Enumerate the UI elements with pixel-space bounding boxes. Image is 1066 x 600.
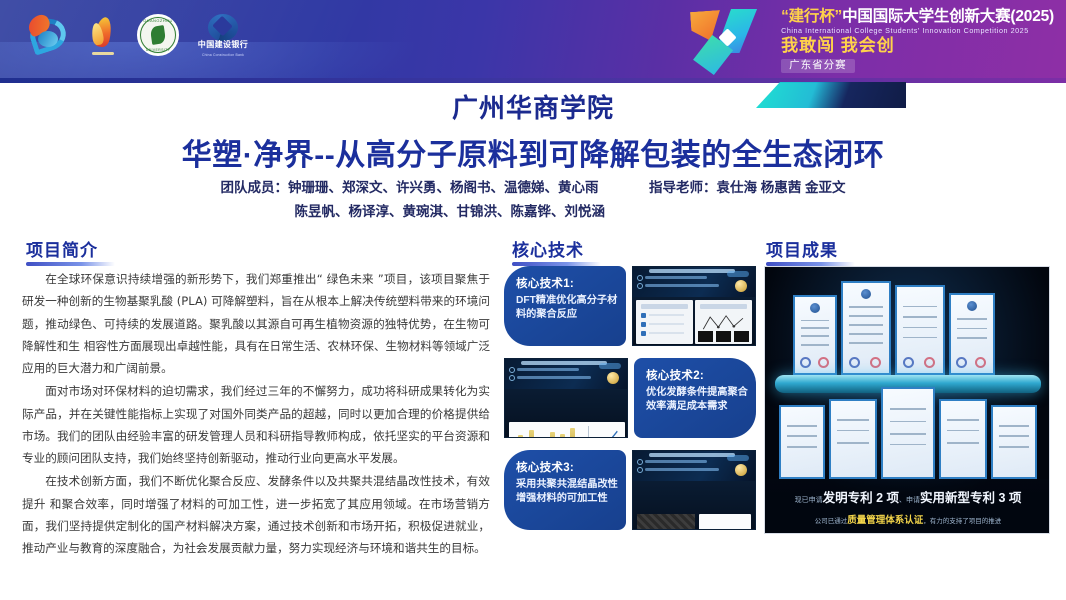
contest-sponsor-quote: “建行杯” [781, 8, 842, 25]
cert-line2-suffix: ，有力的支持了项目的推进 [923, 518, 1001, 525]
contest-slogan: 我敢闯 我会创 [781, 37, 1054, 55]
core-tech-item-2: 核心技术2: 优化发酵条件提高聚合效率满足成本需求 [504, 358, 756, 438]
certificate-item [779, 405, 825, 479]
contest-title-row: “建行杯”中国国际大学生创新大赛(2025) [781, 9, 1054, 25]
patent-line-1: 现已申请发明专利 2 项、申请实用新型专利 3 项 [765, 487, 1050, 506]
contest-title-en: China International College Students' In… [781, 27, 1054, 35]
section-heading-core-tech: 核心技术 [512, 236, 584, 264]
core-tech-title-3: 核心技术3: [516, 459, 618, 475]
footer-whitespace [0, 558, 1066, 600]
sem-image-icon [637, 514, 695, 530]
core-tech-title-1: 核心技术1: [516, 275, 618, 291]
top-banner: GUANGZHOU UNIVERSITY 中国建设银行 China Constr… [0, 0, 1066, 82]
results-image-panel: 现已申请发明专利 2 项、申请实用新型专利 3 项 公司已通过质量管理体系认证，… [764, 266, 1050, 534]
advisors-label: 指导老师： [649, 180, 717, 195]
core-tech-desc-1: DFT精准优化高分子材料的聚合反应 [516, 294, 618, 322]
core-tech-card-1: 核心技术1: DFT精准优化高分子材料的聚合反应 [504, 266, 626, 346]
core-tech-list: 核心技术1: DFT精准优化高分子材料的聚合反应 [504, 266, 756, 534]
intro-paragraph-3: 在技术创新方面，我们不断优化聚合反应、发酵条件以及共聚共混结晶改性技术，有效提升… [22, 470, 490, 559]
flame-logo-icon [88, 13, 122, 57]
certificate-item [895, 285, 945, 375]
intro-paragraph-1: 在全球环保意识持续增强的新形势下，我们郑重推出“ 绿色未来 ”项目，该项目聚焦于… [22, 268, 490, 379]
cert-line2-prefix: 公司已通过 [815, 518, 848, 525]
crystallinity-bar-chart-icon [699, 514, 751, 530]
core-tech-card-3: 核心技术3: 采用共聚共混结晶改性增强材料的可加工性 [504, 450, 626, 530]
team-members-line1: 团队成员：钟珊珊、郑深文、许兴勇、杨阁书、温德娣、黄心雨 [220, 176, 605, 200]
patent-summary-banner: 现已申请发明专利 2 项、申请实用新型专利 3 项 公司已通过质量管理体系认证，… [765, 479, 1050, 533]
intro-paragraph-2: 面对市场对环保材料的迫切需求，我们经过三年的不懈努力，成功将科研成果转化为实际产… [22, 380, 490, 469]
ccb-bank-logo-icon: 中国建设银行 China Construction Bank [194, 13, 252, 57]
contest-text-block: “建行杯”中国国际大学生创新大赛(2025) China Internation… [781, 9, 1054, 74]
core-tech-2-slide-image [504, 358, 628, 438]
certificate-item [991, 405, 1037, 479]
certificate-item [881, 387, 935, 479]
people-block: 团队成员：钟珊珊、郑深文、许兴勇、杨阁书、温德娣、黄心雨 陈昱帆、杨译淳、黄琬淇… [0, 176, 1066, 223]
certificate-item [939, 399, 987, 479]
advisors: 指导老师：袁仕海 杨惠茜 金亚文 [649, 176, 846, 223]
certificate-item [949, 293, 995, 375]
team-members: 团队成员：钟珊珊、郑深文、许兴勇、杨阁书、温德娣、黄心雨 陈昱帆、杨译淳、黄琬淇… [220, 176, 605, 223]
school-name: 广州华商学院 [0, 88, 1066, 125]
core-tech-desc-3: 采用共聚共混结晶改性增强材料的可加工性 [516, 478, 618, 506]
core-tech-item-1: 核心技术1: DFT精准优化高分子材料的聚合反应 [504, 266, 756, 346]
patent-line1-prefix: 现已申请 [795, 497, 823, 504]
contest-badge: “建行杯”中国国际大学生创新大赛(2025) China Internation… [681, 4, 1054, 78]
certificate-item [793, 295, 837, 375]
contest-title-cn: 中国国际大学生创新大赛(2025) [842, 8, 1054, 25]
patent-line1-mid: 、申请 [899, 497, 920, 504]
certificate-item [829, 399, 877, 479]
section-heading-results: 项目成果 [766, 236, 838, 264]
core-tech-3-slide-image [632, 450, 756, 530]
contest-region-badge: 广东省分赛 [781, 59, 855, 73]
certificate-row-bottom [779, 387, 1037, 479]
quality-certification-label: 质量管理体系认证 [847, 515, 923, 526]
patent-utility-count: 实用新型专利 3 项 [920, 491, 1021, 505]
team-members-names1: 钟珊珊、郑深文、许兴勇、杨阁书、温德娣、黄心雨 [288, 180, 599, 195]
advisors-names: 袁仕海 杨惠茜 金亚文 [716, 180, 845, 195]
page-title: 华塑·净界--从高分子原料到可降解包装的全生态闭环 [0, 130, 1066, 174]
patent-invention-count: 发明专利 2 项 [823, 491, 899, 505]
certificate-row-top [793, 281, 995, 375]
team-members-label: 团队成员： [220, 180, 288, 195]
ccb-logo-label: 中国建设银行 [194, 39, 252, 50]
core-tech-item-3: 核心技术3: 采用共聚共混结晶改性增强材料的可加工性 [504, 450, 756, 530]
core-tech-1-slide-image [632, 266, 756, 346]
guangdong-wave-logo-icon [24, 13, 74, 57]
poster-root: GUANGZHOU UNIVERSITY 中国建设银行 China Constr… [0, 0, 1066, 600]
core-tech-title-2: 核心技术2: [646, 367, 748, 383]
banner-bottom-edge [0, 78, 1066, 83]
team-members-names2: 陈昱帆、杨译淳、黄琬淇、甘锦洪、陈嘉铧、刘悦涵 [220, 200, 605, 224]
sponsor-logos: GUANGZHOU UNIVERSITY 中国建设银行 China Constr… [24, 12, 252, 58]
core-tech-card-2: 核心技术2: 优化发酵条件提高聚合效率满足成本需求 [634, 358, 756, 438]
patent-line-2: 公司已通过质量管理体系认证，有力的支持了项目的推进 [765, 512, 1050, 526]
ccb-logo-sublabel: China Construction Bank [194, 53, 252, 57]
section-heading-intro: 项目简介 [26, 236, 98, 264]
university-seal-logo-icon: GUANGZHOU UNIVERSITY [136, 13, 180, 57]
intro-text-block: 在全球环保意识持续增强的新形势下，我们郑重推出“ 绿色未来 ”项目，该项目聚焦于… [22, 268, 490, 560]
fermentation-chart-icon [509, 422, 625, 438]
certificate-item [841, 281, 891, 375]
core-tech-desc-2: 优化发酵条件提高聚合效率满足成本需求 [646, 386, 748, 414]
contest-logo-icon [681, 5, 773, 77]
